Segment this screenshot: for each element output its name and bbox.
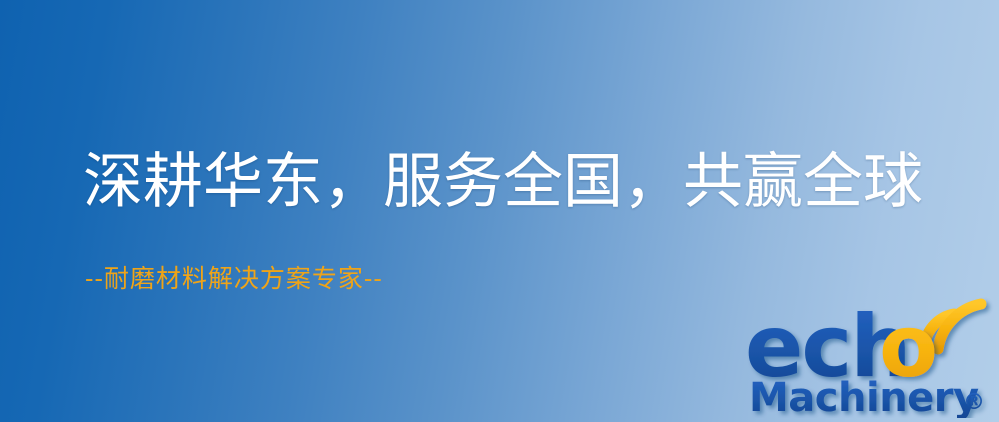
logo-registered-mark: ® xyxy=(963,390,985,415)
page-subtitle: --耐磨材料解决方案专家-- xyxy=(85,266,383,291)
promotional-banner: 深耕华东，服务全国，共赢全球 --耐磨材料解决方案专家-- xyxy=(0,0,999,422)
logo-machinery-text: Machinery xyxy=(749,375,979,418)
page-title: 深耕华东，服务全国，共赢全球 xyxy=(83,152,923,212)
echo-machinery-logo[interactable]: ech o Machinery ® xyxy=(745,296,997,418)
